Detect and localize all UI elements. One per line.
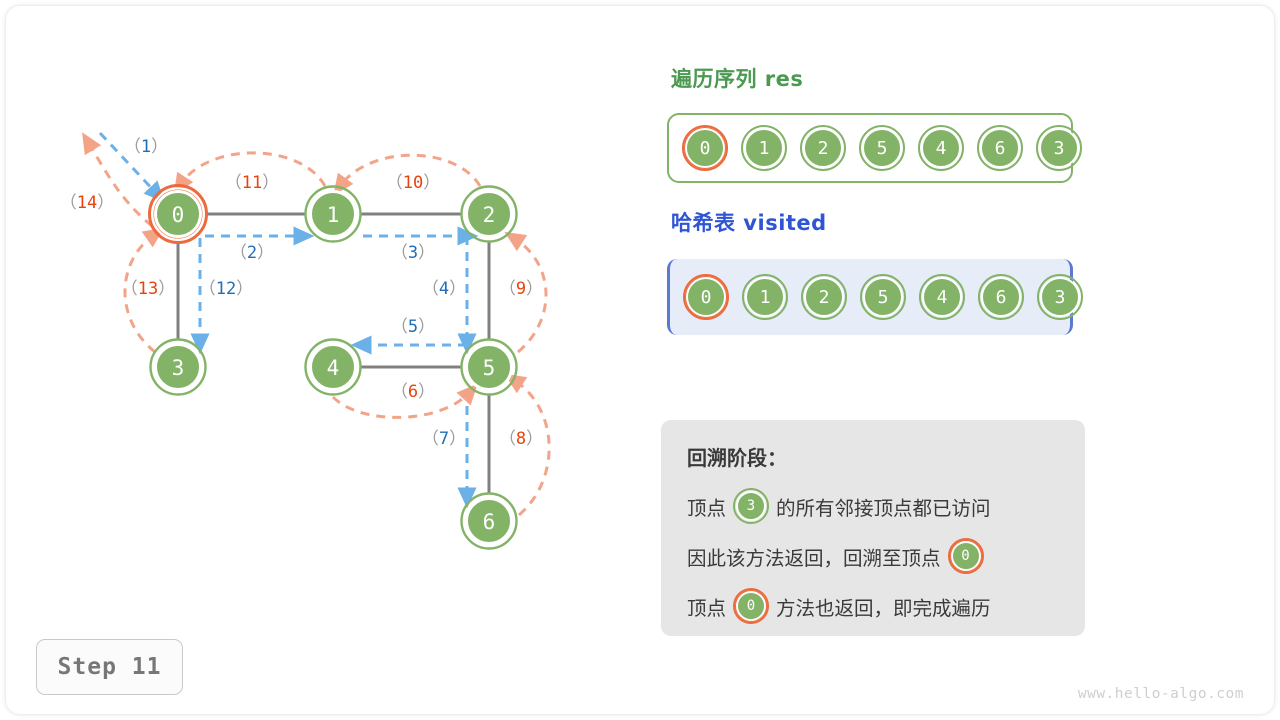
graph-node-0[interactable]: 0 (150, 186, 207, 243)
visited-cell-2[interactable]: 2 (800, 273, 848, 321)
node-label: 2 (483, 203, 496, 227)
cell-label: 2 (800, 273, 848, 321)
visited-title: 哈希表 visited (671, 207, 827, 237)
res-cell-0[interactable]: 0 (681, 124, 729, 172)
explanation-line-1-text-a: 顶点 (687, 492, 726, 521)
step-label-12: （12） (199, 279, 253, 299)
step-badge: Step 11 (36, 639, 183, 695)
explanation-heading: 回溯阶段： (687, 442, 1085, 471)
cell-label: 6 (976, 124, 1024, 172)
node-label: 6 (483, 510, 496, 534)
cell-label: 3 (1036, 273, 1084, 321)
node-label: 4 (327, 356, 340, 380)
res-cell-5[interactable]: 6 (976, 124, 1024, 172)
visited-cell-0[interactable]: 0 (682, 273, 730, 321)
visited-cell-6[interactable]: 3 (1036, 273, 1084, 321)
graph-node-6[interactable]: 6 (462, 494, 517, 549)
graph-svg: （1）（2）（3）（4）（5）（6）（7）（8）（9）（10）（11）（12）（… (0, 0, 640, 720)
cell-label: 0 (681, 124, 729, 172)
explanation-line-3-text-a: 顶点 (687, 592, 726, 621)
watermark: www.hello-algo.com (1078, 686, 1244, 702)
inline-node-3: 3 (732, 487, 770, 525)
node-label: 3 (172, 356, 185, 380)
step-label-6: （6） (391, 382, 435, 402)
inline-node-0-a: 0 (947, 537, 985, 575)
step-label-7: （7） (422, 429, 466, 449)
graph-node-5[interactable]: 5 (462, 340, 517, 395)
node-label: 0 (172, 203, 185, 227)
graph-nodes: 0123456 (150, 186, 517, 549)
visited-cell-1[interactable]: 1 (741, 273, 789, 321)
explanation-line-1-text-b: 的所有邻接顶点都已访问 (776, 492, 991, 521)
step-label-13: （13） (121, 279, 175, 299)
graph-panel: （1）（2）（3）（4）（5）（6）（7）（8）（9）（10）（11）（12）（… (0, 0, 640, 720)
explanation-line-1: 顶点 3 的所有邻接顶点都已访问 (687, 487, 1085, 525)
res-title: 遍历序列 res (671, 63, 803, 93)
step-label-4: （4） (422, 279, 466, 299)
step-label-14: （14） (60, 193, 114, 213)
cell-label: 6 (977, 273, 1025, 321)
visited-cell-4[interactable]: 4 (918, 273, 966, 321)
node-label: 1 (327, 203, 340, 227)
node-label: 5 (483, 356, 496, 380)
right-panel: 遍历序列 res 0125463 哈希表 visited 0125463 回溯阶… (640, 0, 1280, 720)
res-array-box: 0125463 (667, 113, 1073, 183)
cell-label: 2 (799, 124, 847, 172)
step-label-5: （5） (391, 317, 435, 337)
step-label-3: （3） (391, 243, 435, 263)
inline-node-label: 0 (732, 587, 770, 625)
inline-node-label: 0 (947, 537, 985, 575)
step-label-1: （1） (124, 137, 168, 157)
graph-node-2[interactable]: 2 (462, 187, 517, 242)
cell-label: 4 (918, 273, 966, 321)
graph-node-4[interactable]: 4 (306, 340, 361, 395)
cell-label: 5 (858, 124, 906, 172)
cell-label: 1 (741, 273, 789, 321)
step-label-9: （9） (499, 279, 543, 299)
res-cell-row: 0125463 (681, 124, 1083, 172)
inline-node-0-b: 0 (732, 587, 770, 625)
step-label-8: （8） (499, 429, 543, 449)
graph-node-1[interactable]: 1 (306, 187, 361, 242)
explanation-line-2: 因此该方法返回，回溯至顶点 0 (687, 537, 1085, 575)
res-cell-2[interactable]: 2 (799, 124, 847, 172)
explanation-line-3: 顶点 0 方法也返回，即完成遍历 (687, 587, 1085, 625)
inline-node-label: 3 (732, 487, 770, 525)
visited-cell-5[interactable]: 6 (977, 273, 1025, 321)
explanation-box: 回溯阶段： 顶点 3 的所有邻接顶点都已访问 因此该方法返回，回溯至顶点 0 (661, 420, 1085, 636)
visited-hashmap-box: 0125463 (667, 259, 1073, 335)
cell-label: 1 (740, 124, 788, 172)
cell-label: 5 (859, 273, 907, 321)
visited-cell-3[interactable]: 5 (859, 273, 907, 321)
cell-label: 4 (917, 124, 965, 172)
visited-cell-row: 0125463 (682, 273, 1084, 321)
explanation-line-3-text-b: 方法也返回，即完成遍历 (776, 592, 991, 621)
step-label-2: （2） (230, 243, 274, 263)
res-cell-1[interactable]: 1 (740, 124, 788, 172)
graph-node-3[interactable]: 3 (151, 340, 206, 395)
screenshot-root: （1）（2）（3）（4）（5）（6）（7）（8）（9）（10）（11）（12）（… (0, 0, 1280, 720)
step-label-11: （11） (225, 173, 279, 193)
res-cell-6[interactable]: 3 (1035, 124, 1083, 172)
step-labels: （1）（2）（3）（4）（5）（6）（7）（8）（9）（10）（11）（12）（… (60, 137, 543, 449)
cell-label: 0 (682, 273, 730, 321)
step-label-10: （10） (386, 173, 440, 193)
cell-label: 3 (1035, 124, 1083, 172)
res-cell-4[interactable]: 4 (917, 124, 965, 172)
res-cell-3[interactable]: 5 (858, 124, 906, 172)
explanation-line-2-text-a: 因此该方法返回，回溯至顶点 (687, 542, 941, 571)
